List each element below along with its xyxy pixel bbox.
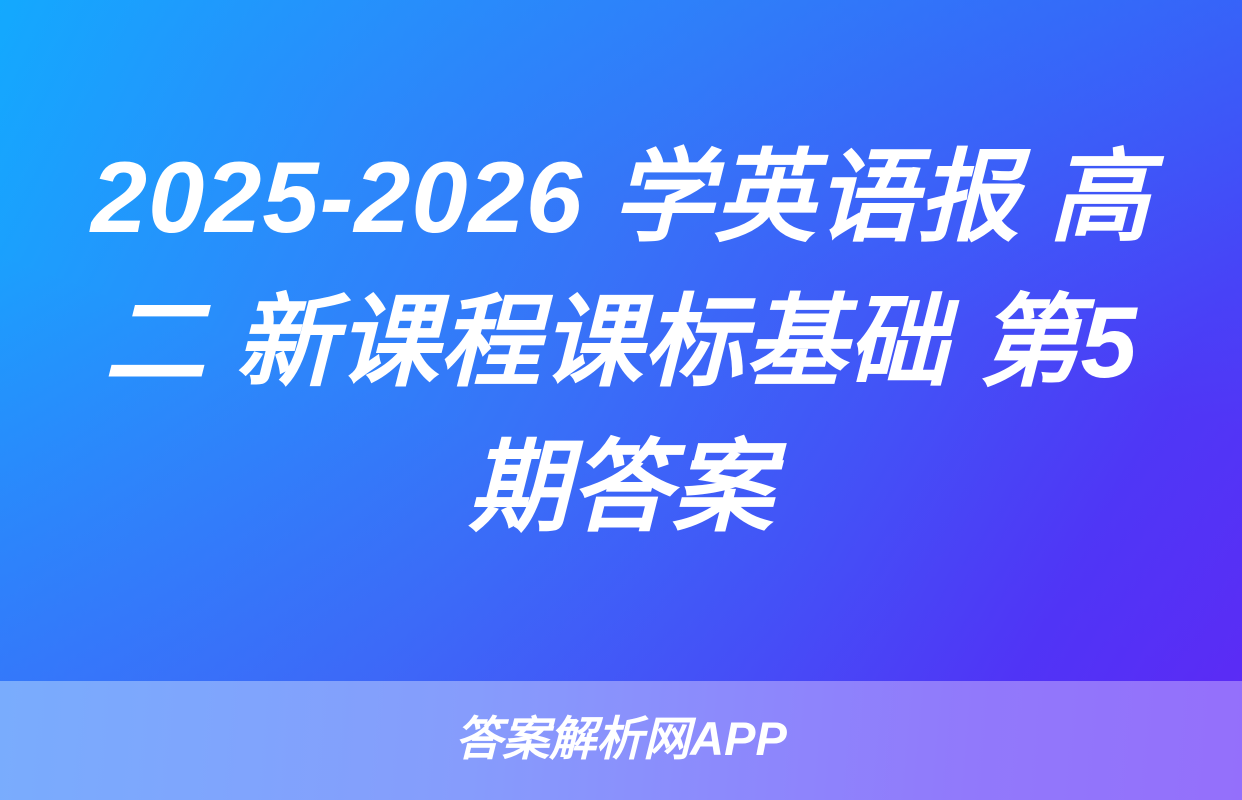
answer-poster: 2025-2026 学英语报 高 二 新课程课标基础 第5 期答案 答案解析网A… [0,0,1242,800]
brand-name: 答案解析网APP [455,711,787,767]
poster-title: 2025-2026 学英语报 高 二 新课程课标基础 第5 期答案 [0,0,1242,681]
title-line-3: 期答案 [0,416,1242,561]
title-line-2: 二 新课程课标基础 第5 [0,271,1242,416]
footer-brand-bar: 答案解析网APP [0,681,1242,800]
title-line-1: 2025-2026 学英语报 高 [0,126,1242,271]
